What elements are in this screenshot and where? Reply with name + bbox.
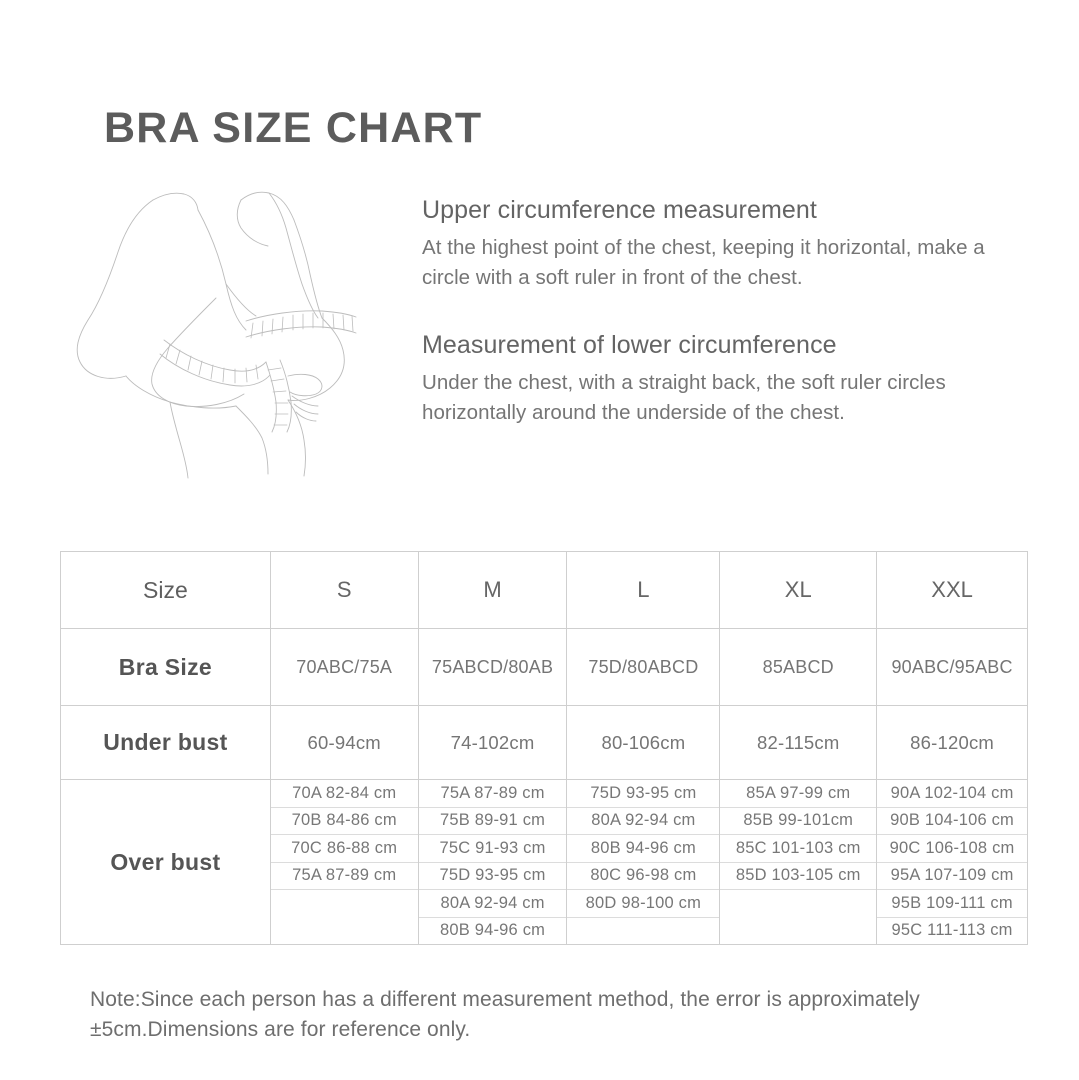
cell-under-bust-m: 74-102cm	[419, 706, 568, 780]
over-bust-cell: 75D 93-95 cm	[419, 863, 567, 891]
table-header-size: Size	[61, 552, 271, 629]
table-row-over-bust: Over bust 70A 82-84 cm70B 84-86 cm70C 86…	[61, 780, 1028, 945]
lower-measurement-heading: Measurement of lower circumference	[422, 329, 1002, 361]
upper-measurement-heading: Upper circumference measurement	[422, 194, 1002, 226]
over-bust-cell: 85B 99-101cm	[720, 808, 876, 836]
instructions-column: Upper circumference measurement At the h…	[422, 194, 1002, 428]
over-bust-empty-space	[567, 918, 719, 946]
instruction-block-lower: Measurement of lower circumference Under…	[422, 329, 1002, 428]
female-torso-with-measuring-tape-illustration	[60, 180, 405, 480]
cell-bra-size-xxl: 90ABC/95ABC	[877, 629, 1028, 706]
over-bust-cell: 70B 84-86 cm	[271, 808, 418, 836]
table-header-m: M	[419, 552, 568, 629]
over-bust-cell: 95B 109-111 cm	[877, 890, 1027, 918]
over-bust-cell: 85D 103-105 cm	[720, 863, 876, 891]
over-bust-cell: 75A 87-89 cm	[271, 863, 418, 891]
over-bust-empty-space	[720, 890, 876, 945]
over-bust-column-xxl: 90A 102-104 cm90B 104-106 cm90C 106-108 …	[877, 780, 1028, 945]
over-bust-cell: 80C 96-98 cm	[567, 863, 719, 891]
table-row-bra-size: Bra Size 70ABC/75A 75ABCD/80AB 75D/80ABC…	[61, 629, 1028, 706]
cell-under-bust-s: 60-94cm	[271, 706, 419, 780]
table-header-xxl: XXL	[877, 552, 1028, 629]
instruction-block-upper: Upper circumference measurement At the h…	[422, 194, 1002, 293]
over-bust-cell: 95C 111-113 cm	[877, 918, 1027, 946]
over-bust-column-xl: 85A 97-99 cm85B 99-101cm85C 101-103 cm85…	[720, 780, 877, 945]
cell-under-bust-l: 80-106cm	[567, 706, 720, 780]
table-header-l: L	[567, 552, 720, 629]
over-bust-cell: 95A 107-109 cm	[877, 863, 1027, 891]
over-bust-cell: 70A 82-84 cm	[271, 780, 418, 808]
cell-bra-size-s: 70ABC/75A	[271, 629, 419, 706]
over-bust-column-m: 75A 87-89 cm75B 89-91 cm75C 91-93 cm75D …	[419, 780, 568, 945]
size-table: Size S M L XL XXL Bra Size 70ABC/75A 75A…	[60, 551, 1028, 945]
bra-size-chart-page: BRA SIZE CHART	[0, 0, 1079, 1080]
upper-measurement-body: At the highest point of the chest, keepi…	[422, 233, 1002, 293]
over-bust-cell: 75D 93-95 cm	[567, 780, 719, 808]
over-bust-cell: 80A 92-94 cm	[567, 808, 719, 836]
cell-bra-size-xl: 85ABCD	[720, 629, 877, 706]
note-text: Note:Since each person has a different m…	[90, 985, 990, 1045]
row-label-over-bust-cell: Over bust	[61, 780, 271, 945]
row-label-under-bust: Under bust	[61, 706, 271, 780]
over-bust-cell: 85A 97-99 cm	[720, 780, 876, 808]
over-bust-column-s: 70A 82-84 cm70B 84-86 cm70C 86-88 cm75A …	[271, 780, 419, 945]
over-bust-cell: 75B 89-91 cm	[419, 808, 567, 836]
table-header-s: S	[271, 552, 419, 629]
over-bust-cell: 90C 106-108 cm	[877, 835, 1027, 863]
over-bust-cell: 80B 94-96 cm	[567, 835, 719, 863]
page-title: BRA SIZE CHART	[104, 105, 482, 152]
over-bust-cell: 80A 92-94 cm	[419, 890, 567, 918]
row-label-over-bust: Over bust	[110, 849, 220, 876]
over-bust-empty-space	[271, 890, 418, 945]
cell-bra-size-m: 75ABCD/80AB	[419, 629, 568, 706]
lower-measurement-body: Under the chest, with a straight back, t…	[422, 368, 1002, 428]
over-bust-cell: 90A 102-104 cm	[877, 780, 1027, 808]
over-bust-cell: 75C 91-93 cm	[419, 835, 567, 863]
cell-under-bust-xxl: 86-120cm	[877, 706, 1028, 780]
table-row-under-bust: Under bust 60-94cm 74-102cm 80-106cm 82-…	[61, 706, 1028, 780]
cell-bra-size-l: 75D/80ABCD	[567, 629, 720, 706]
over-bust-cell: 80B 94-96 cm	[419, 918, 567, 946]
table-header-row: Size S M L XL XXL	[61, 552, 1028, 629]
over-bust-cell: 75A 87-89 cm	[419, 780, 567, 808]
over-bust-cell: 85C 101-103 cm	[720, 835, 876, 863]
over-bust-cell: 90B 104-106 cm	[877, 808, 1027, 836]
over-bust-cell: 70C 86-88 cm	[271, 835, 418, 863]
cell-under-bust-xl: 82-115cm	[720, 706, 877, 780]
table-header-xl: XL	[720, 552, 877, 629]
over-bust-cell: 80D 98-100 cm	[567, 890, 719, 918]
over-bust-column-l: 75D 93-95 cm80A 92-94 cm80B 94-96 cm80C …	[567, 780, 720, 945]
row-label-bra-size: Bra Size	[61, 629, 271, 706]
